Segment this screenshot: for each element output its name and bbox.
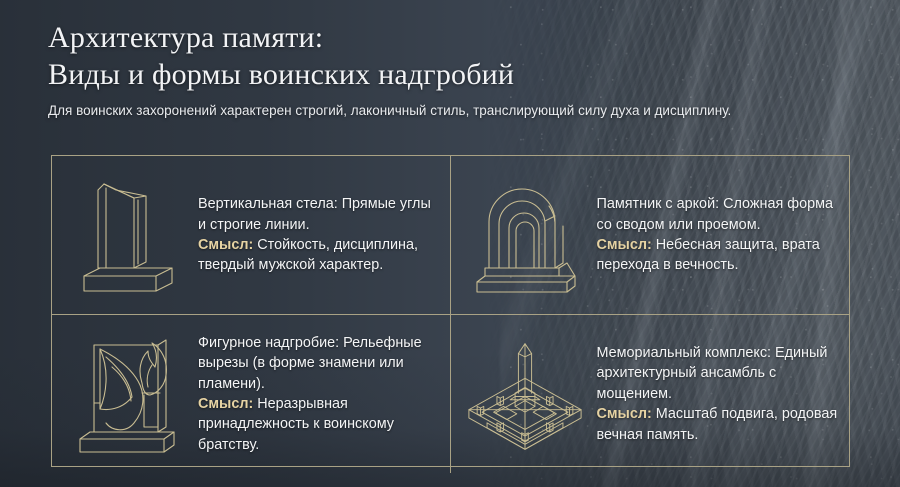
meaning-label: Смысл: bbox=[198, 237, 253, 253]
figured-banner-flame-icon bbox=[60, 323, 192, 465]
cell-meaning: Смысл: Стойкость, дисциплина, твердый му… bbox=[198, 235, 440, 276]
vertical-stele-icon bbox=[60, 164, 192, 306]
table-cell-arch-monument: Памятник с аркой: Сложная форма со сводо… bbox=[451, 156, 850, 315]
table-cell-memorial-complex: Мемориальный комплекс: Единый архитектур… bbox=[451, 315, 850, 473]
cell-description: Памятник с аркой: Сложная форма со сводо… bbox=[597, 194, 840, 235]
page-title-line-2: Виды и формы воинских надгробий bbox=[48, 57, 748, 94]
cell-meaning: Смысл: Неразрывная принадлежность к воин… bbox=[198, 394, 440, 455]
meaning-label: Смысл: bbox=[597, 237, 652, 253]
cell-description: Мемориальный комплекс: Единый архитектур… bbox=[597, 343, 840, 404]
cell-text-vertical-stele: Вертикальная стела: Прямые углы и строги… bbox=[198, 194, 440, 276]
memorial-complex-obelisk-icon bbox=[459, 323, 591, 465]
arch-monument-icon bbox=[459, 164, 591, 306]
cell-description: Фигурное надгробие: Рельефные вырезы (в … bbox=[198, 333, 440, 394]
cell-meaning: Смысл: Небесная защита, врата перехода в… bbox=[597, 235, 840, 276]
page-subtitle: Для воинских захоронений характерен стро… bbox=[48, 101, 738, 122]
table-cell-vertical-stele: Вертикальная стела: Прямые углы и строги… bbox=[52, 156, 451, 315]
page-title-line-1: Архитектура памяти: bbox=[48, 21, 323, 54]
cell-text-memorial-complex: Мемориальный комплекс: Единый архитектур… bbox=[597, 343, 840, 445]
cell-text-arch-monument: Памятник с аркой: Сложная форма со сводо… bbox=[597, 194, 840, 276]
monument-types-table: Вертикальная стела: Прямые углы и строги… bbox=[51, 155, 850, 467]
slide-root: Архитектура памяти: Виды и формы воински… bbox=[0, 0, 900, 487]
table-cell-figured-headstone: Фигурное надгробие: Рельефные вырезы (в … bbox=[52, 315, 451, 473]
cell-meaning: Смысл: Масштаб подвига, родовая вечная п… bbox=[597, 404, 840, 445]
cell-text-figured-headstone: Фигурное надгробие: Рельефные вырезы (в … bbox=[198, 333, 440, 456]
page-title: Архитектура памяти: Виды и формы воински… bbox=[48, 20, 748, 93]
meaning-label: Смысл: bbox=[597, 406, 652, 422]
cell-description: Вертикальная стела: Прямые углы и строги… bbox=[198, 194, 440, 235]
header-block: Архитектура памяти: Виды и формы воински… bbox=[48, 20, 748, 122]
meaning-label: Смысл: bbox=[198, 396, 253, 412]
